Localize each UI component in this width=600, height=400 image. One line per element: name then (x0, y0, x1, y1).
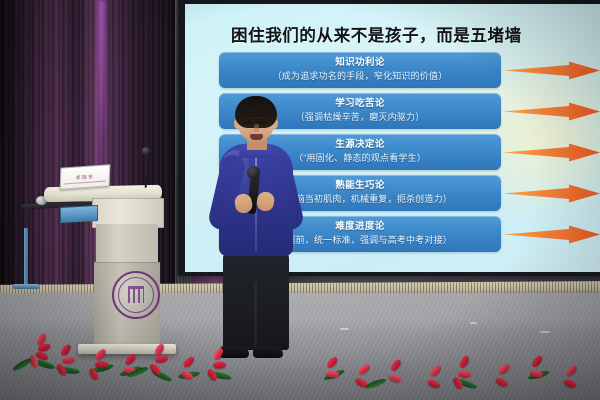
right-arrow-icon (503, 225, 600, 244)
lectern-front-panel (94, 262, 160, 347)
lectern-stand-foot (12, 284, 40, 289)
slide-row-heading: 难度进度论 (335, 222, 385, 233)
slide-row-pill: 知识功利论 （成为追求功名的手段，窄化知识的价值） (219, 52, 501, 88)
slide-row-heading: 生源决定论 (335, 140, 385, 151)
slide-row-heading: 熟能生巧论 (335, 181, 385, 192)
name-card: 李晓东 (60, 164, 111, 190)
presenter-nose (254, 124, 259, 132)
right-arrow-icon (503, 61, 600, 80)
right-arrow-icon (503, 143, 600, 162)
slide-row-subtext: （成为追求功名的手段，窄化知识的价值） (273, 71, 448, 82)
floor-marking (470, 322, 477, 324)
slide-row-heading: 学习吃苦论 (335, 99, 385, 110)
slide-title: 困住我们的从来不是孩子，而是五堵墙 (185, 22, 600, 46)
lecture-hall-scene: 困住我们的从来不是孩子，而是五堵墙 知识功利论 （成为追求功名的手段，窄化知识的… (0, 0, 600, 400)
school-crest-icon (112, 271, 160, 319)
floor-marking (340, 328, 349, 330)
lectern-base (78, 344, 176, 354)
presenter (205, 96, 305, 368)
right-arrow-icon (503, 184, 600, 203)
trouser-seam (254, 282, 257, 350)
slide-row: 知识功利论 （成为追求功名的手段，窄化知识的价值） (185, 52, 600, 90)
right-arrow-icon (503, 102, 600, 121)
gooseneck-microphone-head (142, 147, 150, 155)
lectern-control-panel (60, 205, 98, 223)
presenter-shoe-right (253, 346, 283, 358)
floor-marking (540, 331, 550, 333)
lectern-stand-post (24, 228, 28, 286)
name-card-text: 李晓东 (76, 173, 95, 181)
presenter-mouth (250, 134, 263, 140)
crest-gate-motif (128, 286, 144, 303)
slide-row-heading: 知识功利论 (335, 58, 385, 69)
presenter-shoe-left (219, 346, 249, 358)
slide-row-subtext: （“用固化、静态的观点看学生） (294, 153, 426, 164)
slide-row-subtext: （强调枯燥辛苦，磨灭内驱力） (296, 112, 425, 123)
microphone-head (247, 166, 260, 179)
